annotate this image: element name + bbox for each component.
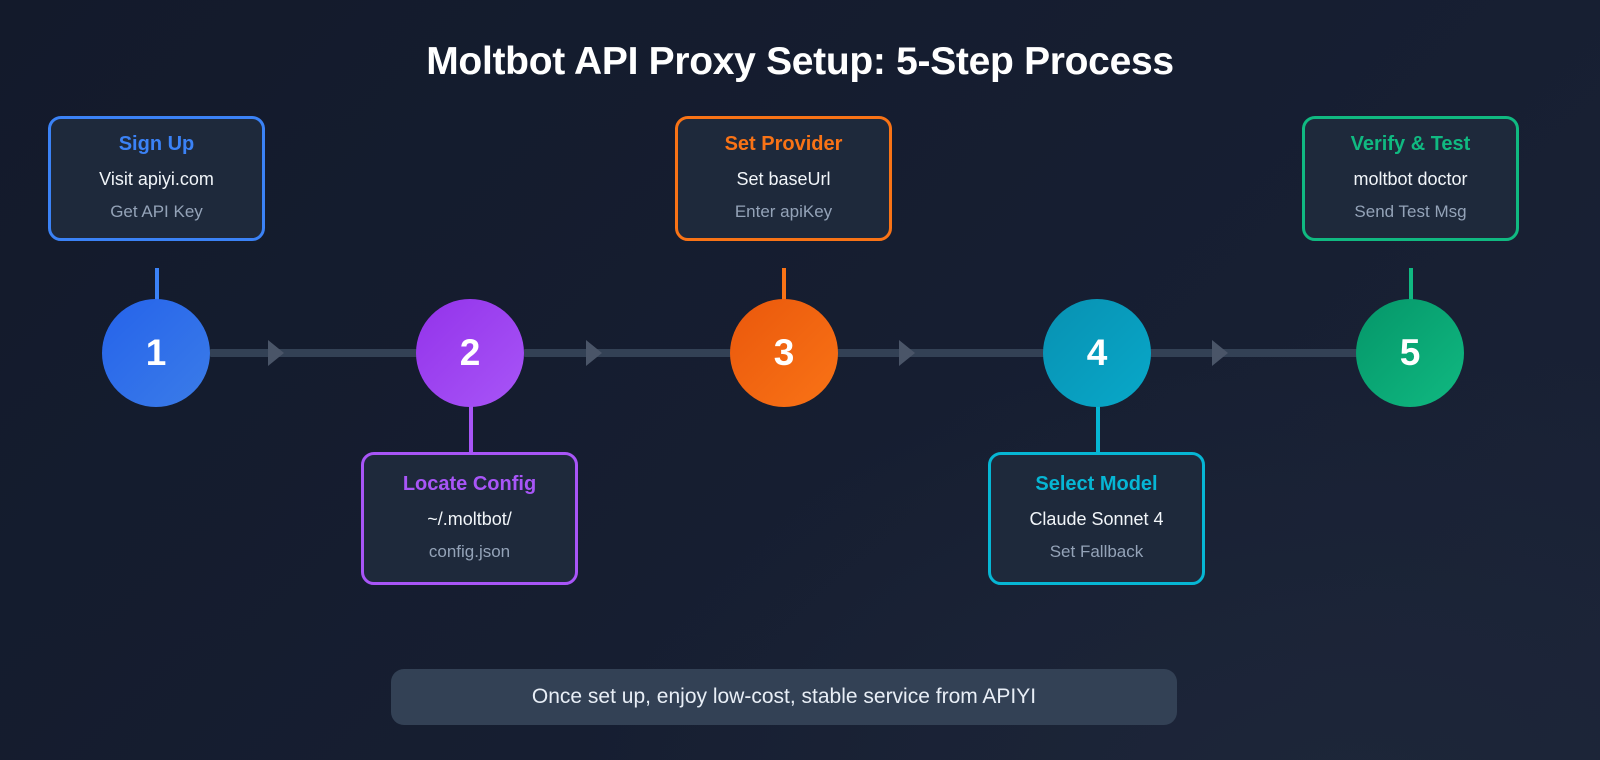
- step-card-5-line1: moltbot doctor: [1315, 169, 1506, 190]
- step-circle-1-number: 1: [146, 332, 167, 374]
- step-circle-4-number: 4: [1087, 332, 1108, 374]
- step-card-4-line1: Claude Sonnet 4: [1001, 509, 1192, 530]
- connector-rail-3-4: [836, 349, 1046, 357]
- step-card-3-line2: Enter apiKey: [688, 202, 879, 222]
- step-circle-4[interactable]: 4: [1043, 299, 1151, 407]
- connector-arrow-2-3: [586, 340, 602, 366]
- connector-rail-1-2: [210, 349, 422, 357]
- connector-rail-4-5: [1150, 349, 1358, 357]
- step-card-4-title: Select Model: [1001, 473, 1192, 496]
- connector-rail-2-3: [524, 349, 732, 357]
- step-card-2-line2: config.json: [374, 542, 565, 562]
- step-card-1-title: Sign Up: [61, 133, 252, 156]
- step-circle-5[interactable]: 5: [1356, 299, 1464, 407]
- step-card-set-provider[interactable]: Set Provider Set baseUrl Enter apiKey: [675, 116, 892, 241]
- flowchart-canvas: Moltbot API Proxy Setup: 5-Step Process …: [0, 0, 1600, 760]
- step-card-select-model[interactable]: Select Model Claude Sonnet 4 Set Fallbac…: [988, 452, 1205, 585]
- step-card-sign-up[interactable]: Sign Up Visit apiyi.com Get API Key: [48, 116, 265, 241]
- step-card-5-title: Verify & Test: [1315, 133, 1506, 156]
- step-circle-2-number: 2: [460, 332, 481, 374]
- step-card-1-line1: Visit apiyi.com: [61, 169, 252, 190]
- connector-arrow-3-4: [899, 340, 915, 366]
- step-circle-3[interactable]: 3: [730, 299, 838, 407]
- connector-arrow-1-2: [268, 340, 284, 366]
- footer-note-text: Once set up, enjoy low-cost, stable serv…: [532, 685, 1036, 709]
- step-card-3-line1: Set baseUrl: [688, 169, 879, 190]
- footer-note: Once set up, enjoy low-cost, stable serv…: [391, 669, 1177, 725]
- step-card-2-title: Locate Config: [374, 473, 565, 496]
- step-circle-2[interactable]: 2: [416, 299, 524, 407]
- step-card-5-line2: Send Test Msg: [1315, 202, 1506, 222]
- page-title: Moltbot API Proxy Setup: 5-Step Process: [0, 40, 1600, 84]
- connector-arrow-4-5: [1212, 340, 1228, 366]
- step-circle-3-number: 3: [774, 332, 795, 374]
- step-card-3-title: Set Provider: [688, 133, 879, 156]
- step-circle-1[interactable]: 1: [102, 299, 210, 407]
- step-card-locate-config[interactable]: Locate Config ~/.moltbot/ config.json: [361, 452, 578, 585]
- step-card-2-line1: ~/.moltbot/: [374, 509, 565, 530]
- step-circle-5-number: 5: [1400, 332, 1421, 374]
- step-card-verify-test[interactable]: Verify & Test moltbot doctor Send Test M…: [1302, 116, 1519, 241]
- step-card-4-line2: Set Fallback: [1001, 542, 1192, 562]
- step-card-1-line2: Get API Key: [61, 202, 252, 222]
